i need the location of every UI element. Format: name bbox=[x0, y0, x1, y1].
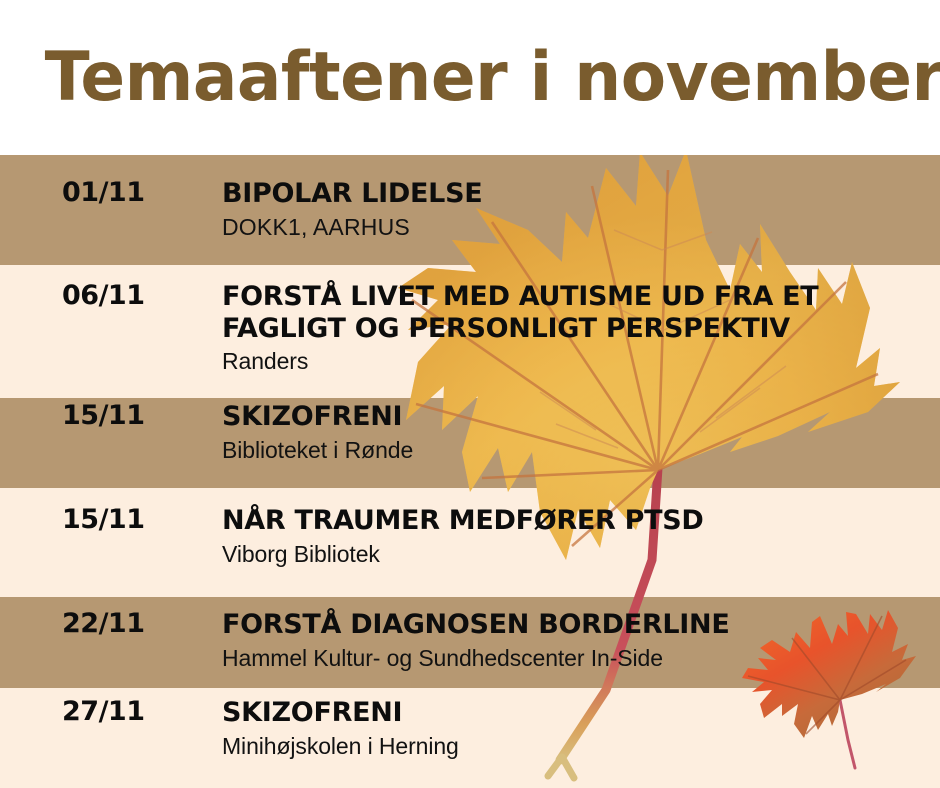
event-row[interactable]: 27/11SKIZOFRENIMinihøjskolen i Herning bbox=[0, 697, 940, 760]
event-title: FORSTÅ LIVET MED AUTISME UD FRA ET FAGLI… bbox=[222, 281, 940, 344]
event-date: 15/11 bbox=[0, 505, 160, 534]
event-title: SKIZOFRENI bbox=[222, 697, 940, 729]
event-date: 27/11 bbox=[0, 697, 160, 726]
event-date: 15/11 bbox=[0, 401, 160, 430]
event-row[interactable]: 06/11FORSTÅ LIVET MED AUTISME UD FRA ET … bbox=[0, 281, 940, 376]
event-venue: DOKK1, AARHUS bbox=[222, 213, 940, 242]
event-row[interactable]: 15/11NÅR TRAUMER MEDFØRER PTSDViborg Bib… bbox=[0, 505, 940, 568]
page-title: Temaaftener i november bbox=[0, 38, 940, 117]
event-body: SKIZOFRENIBiblioteket i Rønde bbox=[160, 401, 940, 464]
event-date: 22/11 bbox=[0, 609, 160, 638]
event-title: BIPOLAR LIDELSE bbox=[222, 178, 940, 210]
event-row[interactable]: 22/11FORSTÅ DIAGNOSEN BORDERLINEHammel K… bbox=[0, 609, 940, 672]
event-venue: Hammel Kultur- og Sundhedscenter In-Side bbox=[222, 644, 940, 673]
poster-title-bar: Temaaftener i november bbox=[0, 0, 940, 155]
event-row[interactable]: 01/11BIPOLAR LIDELSEDOKK1, AARHUS bbox=[0, 178, 940, 241]
event-title: NÅR TRAUMER MEDFØRER PTSD bbox=[222, 505, 940, 537]
event-body: BIPOLAR LIDELSEDOKK1, AARHUS bbox=[160, 178, 940, 241]
event-row[interactable]: 15/11SKIZOFRENIBiblioteket i Rønde bbox=[0, 401, 940, 464]
event-body: FORSTÅ DIAGNOSEN BORDERLINEHammel Kultur… bbox=[160, 609, 940, 672]
event-venue: Minihøjskolen i Herning bbox=[222, 732, 940, 761]
poster-canvas: 01/11BIPOLAR LIDELSEDOKK1, AARHUS06/11FO… bbox=[0, 0, 940, 788]
event-venue: Randers bbox=[222, 347, 940, 376]
event-body: SKIZOFRENIMinihøjskolen i Herning bbox=[160, 697, 940, 760]
event-title: SKIZOFRENI bbox=[222, 401, 940, 433]
event-body: FORSTÅ LIVET MED AUTISME UD FRA ET FAGLI… bbox=[160, 281, 940, 376]
event-venue: Biblioteket i Rønde bbox=[222, 436, 940, 465]
event-title: FORSTÅ DIAGNOSEN BORDERLINE bbox=[222, 609, 940, 641]
event-body: NÅR TRAUMER MEDFØRER PTSDViborg Bibliote… bbox=[160, 505, 940, 568]
event-date: 01/11 bbox=[0, 178, 160, 207]
event-venue: Viborg Bibliotek bbox=[222, 540, 940, 569]
event-date: 06/11 bbox=[0, 281, 160, 310]
